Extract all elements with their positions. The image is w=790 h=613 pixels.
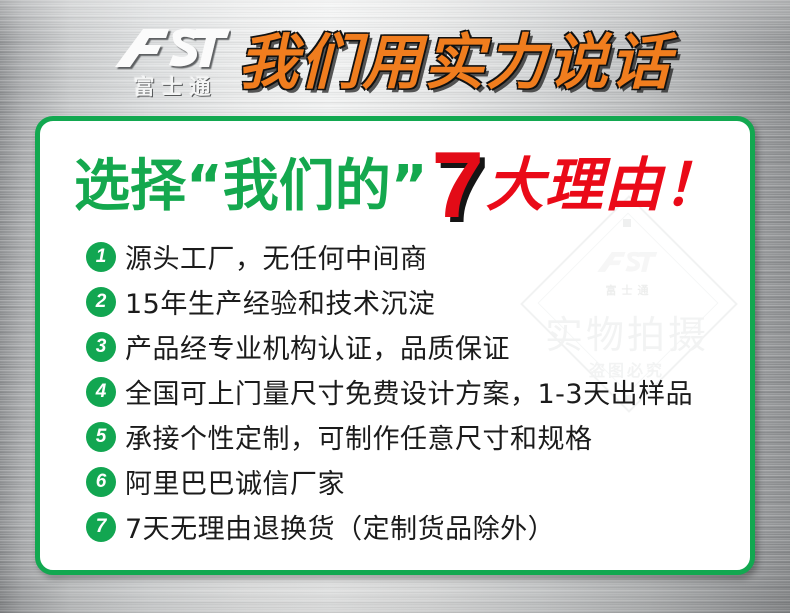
reason-text: 全国可上门量尺寸免费设计方案，1-3天出样品 bbox=[125, 372, 693, 411]
reasons-card: 富士通 实物拍摄 盗图必究 选择“我们的” 7 大理由！ 1 源头工厂，无任何中… bbox=[35, 116, 755, 575]
reason-text: 15年生产经验和技术沉淀 bbox=[125, 282, 435, 321]
reason-number-badge: 7 bbox=[86, 512, 116, 542]
reason-number-badge: 3 bbox=[86, 332, 116, 362]
reason-number-badge: 1 bbox=[86, 242, 116, 272]
reason-text: 产品经专业机构认证，品质保证 bbox=[125, 327, 510, 366]
reasons-list: 1 源头工厂，无任何中间商 2 15年生产经验和技术沉淀 3 产品经专业机构认证… bbox=[86, 234, 736, 549]
list-item: 1 源头工厂，无任何中间商 bbox=[86, 234, 736, 279]
reason-text: 阿里巴巴诚信厂家 bbox=[125, 462, 345, 501]
reason-number-badge: 5 bbox=[86, 422, 116, 452]
card-title: 选择“我们的” 7 大理由！ bbox=[74, 142, 722, 218]
reason-text: 7天无理由退换货（定制货品除外） bbox=[125, 507, 555, 546]
promo-banner: 富士通 我们用实力说话 富士通 实物拍摄 盗图必究 bbox=[0, 0, 790, 613]
fst-logo-icon bbox=[113, 27, 231, 73]
watermark-square-top bbox=[623, 219, 631, 227]
list-item: 5 承接个性定制，可制作任意尺寸和规格 bbox=[86, 414, 736, 459]
reason-text: 源头工厂，无任何中间商 bbox=[125, 237, 428, 276]
list-item: 7 7天无理由退换货（定制货品除外） bbox=[86, 504, 736, 549]
banner-header: 富士通 我们用实力说话 bbox=[0, 0, 790, 115]
reason-number-badge: 4 bbox=[86, 377, 116, 407]
brand-logo: 富士通 bbox=[113, 27, 231, 100]
card-title-red-part: 大理由！ bbox=[486, 154, 722, 216]
reason-number-badge: 2 bbox=[86, 287, 116, 317]
card-title-number: 7 bbox=[432, 154, 484, 216]
list-item: 6 阿里巴巴诚信厂家 bbox=[86, 459, 736, 504]
list-item: 2 15年生产经验和技术沉淀 bbox=[86, 279, 736, 324]
reason-number-badge: 6 bbox=[86, 467, 116, 497]
reason-text: 承接个性定制，可制作任意尺寸和规格 bbox=[125, 417, 593, 456]
card-title-green-part: 选择“我们的” bbox=[74, 156, 428, 218]
list-item: 4 全国可上门量尺寸免费设计方案，1-3天出样品 bbox=[86, 369, 736, 414]
list-item: 3 产品经专业机构认证，品质保证 bbox=[86, 324, 736, 369]
header-headline: 我们用实力说话 bbox=[238, 28, 672, 98]
brand-logo-cn-label: 富士通 bbox=[113, 74, 231, 100]
